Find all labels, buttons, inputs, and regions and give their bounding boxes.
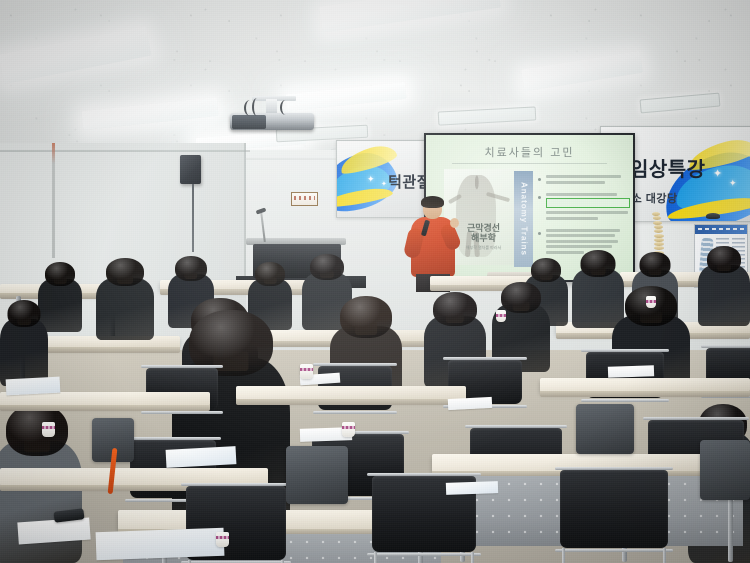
slide-highlight-box [546,198,630,208]
shoulder-bag [700,440,750,500]
slide-bullet [538,193,628,220]
audience-member-torso [0,441,82,563]
slide-book-spine-label: Anatomy Trains [519,182,528,256]
wall-corner-seam [244,143,246,293]
desk [236,386,466,400]
paper-cup [496,310,506,322]
audience-member [0,300,48,386]
audience-member-head [310,254,344,280]
vertebra-segment [653,221,662,225]
chair-leg [374,552,377,563]
audience-member-head [255,262,285,286]
audience-member [698,246,750,326]
presenter-hand [450,218,459,228]
paper-cup [216,532,229,547]
slide-text-line [546,211,628,214]
audience-member-head [175,256,207,281]
handout-paper [6,377,61,396]
handout-paper [608,365,654,378]
audience-member-head [501,282,541,313]
audience-member-head [707,246,741,273]
audience-member-torso [0,319,48,386]
desk [0,392,210,406]
chair-leg [663,548,666,563]
vertebra-segment [653,216,661,220]
ceiling-projector-icon [222,96,320,136]
slide-title: 치료사들의 고민 [426,144,633,160]
audience-member-head [6,404,68,456]
backpack [286,446,348,504]
audience-member-head [340,296,392,338]
handout-paper [448,397,493,410]
audience-member-head [531,258,561,282]
audience-member-torso [96,278,154,340]
desk [540,378,750,392]
speaker-cable [192,184,194,252]
framed-notice-sign [291,192,318,206]
slide-text-line [546,175,621,178]
audience-member-head [8,300,41,327]
backpack [576,404,634,454]
paper-cup [342,422,355,437]
slide-text-line [546,229,620,232]
audience-member-head [640,252,671,277]
audience-member-head [433,292,477,326]
audience-member [96,258,154,340]
audience-member-head [106,258,144,286]
audience-member-head [581,250,616,277]
slide-text-line [546,240,618,243]
wall-hanging-strip [52,143,55,258]
slide-text-line [546,181,605,184]
chair-leg [562,548,565,563]
vertebra-segment [654,246,664,250]
handout-paper [446,481,498,495]
paper-cup [42,422,55,437]
handout-paper [166,446,237,468]
audience-member-torso [698,265,750,326]
slide-text-line [546,217,598,220]
slide-bullet [538,175,628,184]
paper-cup [300,364,313,379]
slide-text-line [546,193,617,196]
chair-leg [471,552,474,563]
slide-text-line [546,234,615,237]
slide-title-rule [452,163,607,164]
slide-book-spine: Anatomy Trains [514,171,533,267]
paper-cup [646,296,656,308]
vertebra-segment [654,234,663,238]
poster-light-icon [706,213,720,219]
vertebra-segment [654,229,663,233]
glasses-icon [423,206,442,211]
wall-speaker-icon [180,155,201,184]
chair [560,470,668,548]
slide-text-line [546,245,612,248]
audience-member-head [45,262,75,286]
lecture-hall-photo: ✦ ✦ 턱관절 ✦ ✦ ] 법 임상특강 구소 대강당 치료사들의 고민 근막경… [0,0,750,563]
wall-ceiling-seam [0,150,250,152]
handout-paper [96,528,225,560]
